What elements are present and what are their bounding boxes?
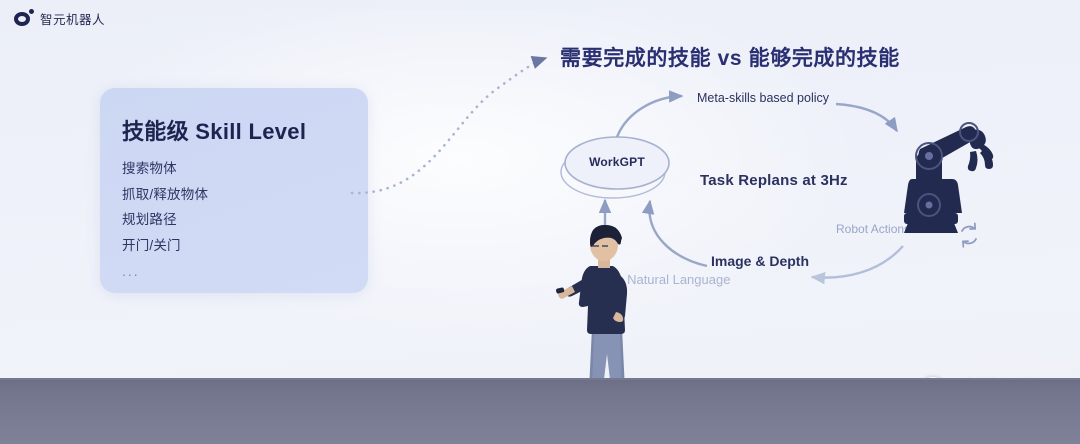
task-replans-label: Task Replans at 3Hz <box>700 172 848 191</box>
workgpt-node-label: WorkGPT <box>578 155 656 169</box>
list-item: 抓取/释放物体 <box>122 188 368 202</box>
brand-logo: 智元机器人 <box>14 9 105 28</box>
list-item-ellipsis: ... <box>122 264 368 278</box>
stage-floor <box>0 378 1080 444</box>
skill-level-card: 技能级 Skill Level 搜索物体 抓取/释放物体 规划路径 开门/关门 … <box>100 88 368 293</box>
arrow-robot-to-image <box>812 246 903 278</box>
zhiyuan-logo-icon <box>14 9 33 28</box>
dotted-pointer-arrow <box>352 58 546 193</box>
skill-card-list: 搜索物体 抓取/释放物体 规划路径 开门/关门 ... <box>122 162 368 278</box>
image-depth-label: Image & Depth <box>711 252 809 270</box>
list-item: 规划路径 <box>122 213 368 227</box>
presentation-stage: 智元机器人 技能级 Skill Level 搜索物体 抓取/释放物体 规划路径 … <box>0 0 1080 444</box>
list-item: 搜索物体 <box>122 162 368 176</box>
list-item: 开门/关门 <box>122 239 368 253</box>
workgpt-ellipse-back <box>561 146 665 198</box>
brand-name: 智元机器人 <box>40 9 105 28</box>
robot-arm-icon <box>880 105 1000 240</box>
slide-headline: 需要完成的技能 vs 能够完成的技能 <box>560 42 900 72</box>
skill-card-title: 技能级 Skill Level <box>122 114 368 146</box>
meta-skills-label: Meta-skills based policy <box>697 91 829 107</box>
arrow-workgpt-to-meta <box>617 96 682 137</box>
